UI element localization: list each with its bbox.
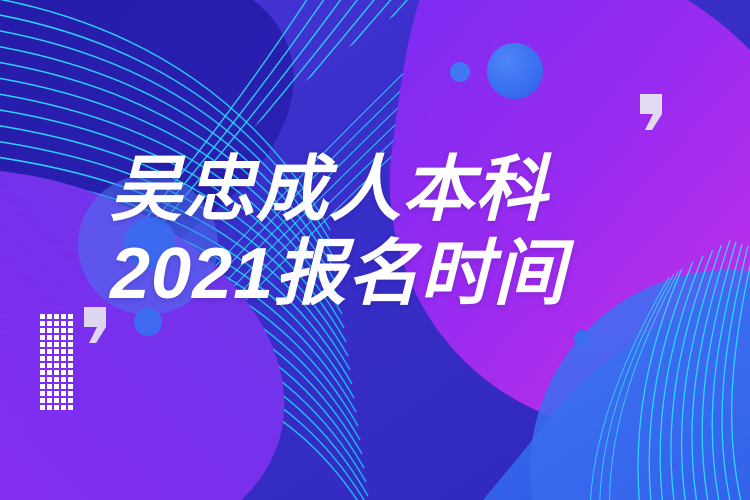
dot-grid-decoration <box>40 314 74 411</box>
blue-dot-near-subtitle <box>574 330 590 346</box>
headline-line-2: 2021报名时间 <box>110 232 670 316</box>
blue-circle-large-top <box>487 43 543 99</box>
quote-mark-bottom-left <box>80 305 110 345</box>
headline-block: 吴忠成人本科 2021报名时间 <box>110 148 670 316</box>
promo-banner: 吴忠成人本科 2021报名时间 <box>0 0 750 500</box>
blue-circle-small-top <box>450 62 470 82</box>
headline-line-1: 吴忠成人本科 <box>110 148 670 232</box>
quote-mark-top-right <box>636 92 666 132</box>
